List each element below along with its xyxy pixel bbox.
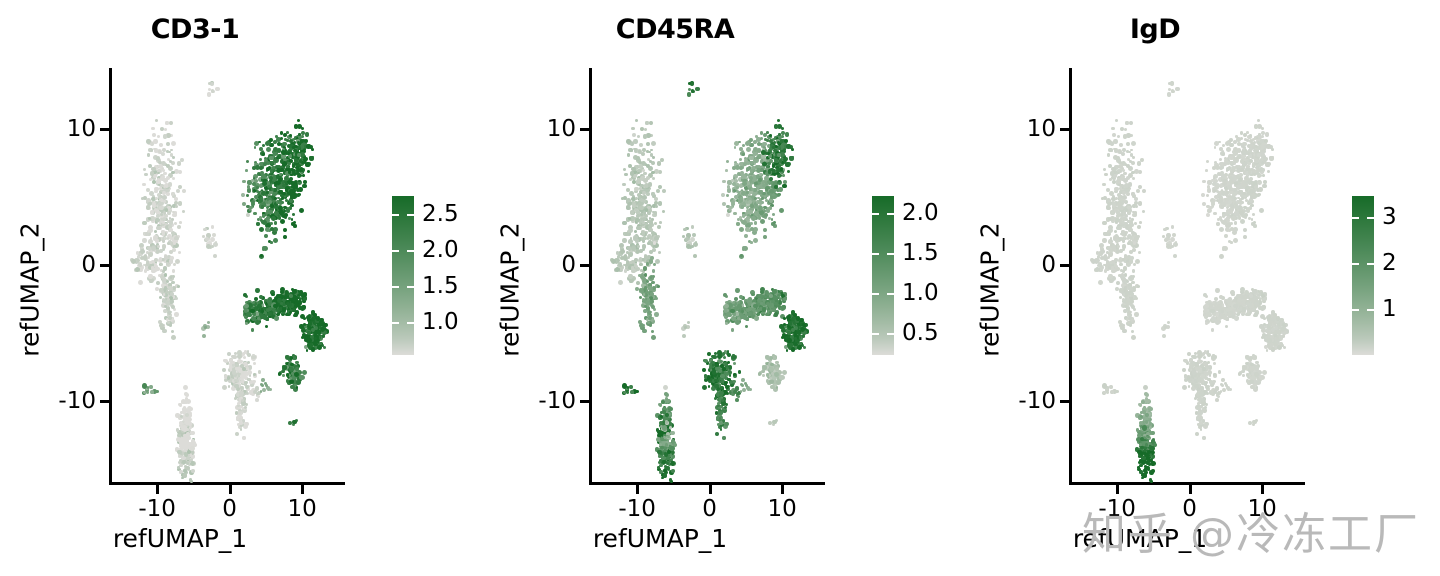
scatter-point	[766, 131, 769, 134]
scatter-point	[1130, 311, 1133, 314]
scatter-point	[164, 128, 167, 131]
scatter-point	[293, 295, 298, 300]
scatter-point	[1222, 214, 1225, 217]
scatter-point	[280, 302, 283, 305]
scatter-point	[188, 407, 192, 411]
scatter-point	[273, 304, 278, 309]
scatter-point	[643, 299, 646, 302]
scatter-point	[630, 210, 634, 214]
scatter-point	[307, 343, 312, 348]
scatter-point	[1125, 121, 1128, 124]
scatter-point	[153, 174, 156, 177]
scatter-point	[1118, 196, 1121, 199]
scatter-point	[779, 375, 784, 380]
scatter-point	[629, 385, 633, 389]
scatter-point	[693, 254, 697, 258]
scatter-point	[635, 119, 638, 122]
scatter-point	[242, 436, 245, 439]
scatter-point	[149, 385, 153, 389]
scatter-point	[634, 258, 638, 262]
scatter-point	[738, 370, 742, 374]
scatter-point	[647, 211, 651, 215]
scatter-point	[1098, 280, 1103, 285]
scatter-point	[665, 420, 669, 424]
scatter-point	[162, 169, 165, 172]
scatter-point	[758, 206, 763, 211]
scatter-point	[777, 153, 781, 157]
scatter-point	[779, 159, 783, 163]
scatter-point	[236, 416, 239, 419]
scatter-point	[280, 219, 285, 224]
scatter-point	[776, 380, 781, 385]
scatter-point	[176, 189, 181, 194]
scatter-point	[191, 469, 195, 473]
panel-igd: IgD refUMAP_1 refUMAP_2 321 100-10-10010	[960, 0, 1440, 576]
scatter-point	[322, 334, 326, 338]
scatter-point	[245, 169, 248, 172]
scatter-point	[1131, 335, 1136, 340]
scatter-point	[1125, 208, 1129, 212]
scatter-point	[163, 134, 168, 139]
scatter-point	[1124, 128, 1127, 131]
scatter-point	[661, 400, 665, 404]
scatter-point	[637, 135, 640, 138]
scatter-point	[269, 388, 272, 391]
scatter-point	[759, 210, 763, 214]
scatter-point	[294, 312, 299, 317]
scatter-point	[154, 258, 158, 262]
scatter-point	[1136, 189, 1141, 194]
figure-root: CD3-1 refUMAP_1 refUMAP_2 2.52.01.51.0 1…	[0, 0, 1440, 576]
scatter-point	[662, 410, 666, 414]
scatter-point	[266, 317, 270, 321]
colorbar-tick	[407, 214, 414, 216]
scatter-point	[641, 152, 645, 156]
scatter-point	[650, 311, 653, 314]
scatter-point	[259, 158, 262, 161]
scatter-point	[670, 431, 674, 435]
scatter-point	[648, 182, 653, 187]
scatter-point	[253, 373, 256, 376]
scatter-point	[639, 143, 643, 147]
scatter-point	[1123, 172, 1126, 175]
scatter-point	[1129, 121, 1133, 125]
scatter-point	[668, 407, 672, 411]
scatter-point	[776, 386, 779, 389]
y-axis-label: refUMAP_2	[496, 190, 525, 390]
colorbar-tick-label: 2.5	[422, 201, 459, 227]
scatter-point	[172, 156, 175, 159]
scatter-point	[736, 222, 739, 225]
scatter-point	[634, 187, 639, 192]
scatter-point	[662, 210, 665, 213]
scatter-point	[181, 400, 185, 404]
scatter-point	[1137, 225, 1141, 229]
colorbar-tick	[872, 253, 879, 255]
scatter-point	[316, 316, 320, 320]
scatter-point	[648, 286, 653, 291]
scatter-point	[281, 197, 284, 200]
scatter-point	[620, 249, 625, 254]
x-tick	[709, 485, 712, 494]
scatter-point	[784, 139, 788, 143]
scatter-point	[651, 330, 654, 333]
scatter-point	[775, 367, 779, 371]
scatter-point	[1117, 135, 1120, 138]
scatter-area	[1070, 68, 1302, 482]
scatter-point	[630, 171, 635, 176]
x-tick-label: 0	[702, 496, 717, 522]
scatter-point	[232, 355, 236, 359]
scatter-point	[168, 286, 173, 291]
scatter-point	[781, 305, 786, 310]
x-tick	[229, 485, 232, 494]
scatter-point	[739, 147, 743, 151]
scatter-point	[1201, 193, 1205, 197]
scatter-point	[726, 213, 731, 218]
scatter-point	[1129, 259, 1134, 264]
scatter-point	[263, 162, 267, 166]
scatter-point	[1129, 220, 1134, 225]
scatter-point	[772, 213, 775, 216]
scatter-point	[727, 188, 731, 192]
scatter-point	[740, 254, 743, 257]
scatter-point	[685, 237, 689, 241]
scatter-point	[177, 285, 180, 288]
y-tick-label: 10	[547, 116, 576, 142]
scatter-point	[256, 186, 259, 189]
scatter-point	[155, 119, 158, 122]
scatter-point	[731, 202, 735, 206]
scatter-point	[299, 208, 304, 213]
scatter-point	[629, 261, 632, 264]
scatter-point	[259, 147, 263, 151]
scatter-point	[271, 216, 276, 221]
scatter-point	[261, 205, 265, 209]
scatter-point	[719, 421, 723, 425]
scatter-point	[754, 316, 759, 321]
scatter-point	[282, 184, 285, 187]
scatter-point	[158, 196, 161, 199]
scatter-point	[234, 384, 239, 389]
scatter-point	[728, 365, 732, 369]
colorbar-tick-label: 1.5	[902, 240, 939, 266]
scatter-point	[753, 147, 758, 152]
scatter-point	[249, 208, 252, 211]
scatter-point	[183, 473, 187, 477]
scatter-point	[652, 156, 655, 159]
scatter-point	[764, 176, 768, 180]
colorbar: 2.52.01.51.0	[390, 180, 480, 380]
scatter-point	[294, 185, 298, 189]
scatter-point	[169, 220, 174, 225]
scatter-point	[142, 183, 146, 187]
scatter-point	[184, 392, 188, 396]
scatter-point	[714, 384, 719, 389]
scatter-point	[773, 295, 778, 300]
scatter-point	[258, 370, 262, 374]
scatter-point	[764, 213, 768, 217]
scatter-point	[238, 412, 241, 415]
scatter-point	[179, 221, 182, 224]
scatter-point	[753, 304, 758, 309]
scatter-point	[1117, 245, 1121, 249]
scatter-point	[1124, 286, 1127, 289]
scatter-point	[185, 420, 189, 424]
scatter-point	[1135, 259, 1140, 264]
scatter-point	[282, 307, 287, 312]
scatter-point	[282, 374, 285, 377]
scatter-point	[721, 399, 724, 402]
scatter-point	[636, 281, 640, 285]
scatter-point	[143, 255, 148, 260]
scatter-point	[284, 176, 288, 180]
scatter-point	[649, 250, 654, 255]
scatter-point	[311, 148, 314, 151]
scatter-point	[654, 312, 659, 317]
scatter-point	[724, 381, 727, 384]
scatter-point	[245, 322, 248, 325]
scatter-point	[735, 320, 740, 325]
x-tick	[781, 485, 784, 494]
scatter-point	[270, 222, 273, 225]
scatter-point	[297, 153, 301, 157]
scatter-point	[165, 121, 168, 124]
scatter-point	[774, 185, 778, 189]
scatter-point	[166, 150, 169, 153]
scatter-point	[227, 352, 232, 357]
scatter-point	[144, 269, 147, 272]
scatter-point	[271, 293, 274, 296]
scatter-point	[723, 356, 726, 359]
scatter-point	[639, 296, 642, 299]
scatter-point	[274, 316, 279, 321]
scatter-point	[652, 211, 655, 214]
scatter-point	[148, 274, 152, 278]
scatter-point	[166, 142, 170, 146]
scatter-point	[174, 312, 179, 317]
scatter-point	[244, 304, 249, 309]
scatter-point	[631, 167, 635, 171]
scatter-point	[213, 254, 217, 258]
scatter-point	[140, 249, 145, 254]
scatter-point	[1128, 286, 1133, 291]
scatter-point	[630, 390, 634, 394]
scatter-point	[1243, 228, 1247, 232]
y-tick-label: 10	[67, 116, 96, 142]
scatter-point	[215, 87, 219, 91]
scatter-point	[168, 166, 173, 171]
scatter-point	[758, 190, 762, 194]
scatter-point	[261, 384, 264, 387]
scatter-point	[301, 328, 306, 333]
scatter-point	[164, 286, 167, 289]
scatter-point	[298, 133, 301, 136]
scatter-point	[631, 127, 634, 130]
scatter-point	[159, 296, 162, 299]
scatter-point	[724, 304, 729, 309]
scatter-point	[222, 385, 227, 390]
scatter-point	[1131, 171, 1134, 174]
scatter-point	[642, 169, 645, 172]
y-tick	[580, 264, 589, 267]
colorbar-tick	[887, 333, 894, 335]
scatter-point	[663, 385, 668, 390]
scatter-point	[655, 297, 659, 301]
scatter-point	[722, 436, 725, 439]
scatter-point	[1142, 210, 1145, 213]
scatter-point	[722, 180, 726, 184]
scatter-point	[174, 169, 179, 174]
scatter-point	[717, 354, 722, 359]
scatter-point	[654, 169, 659, 174]
scatter-point	[714, 397, 717, 400]
scatter-point	[171, 335, 176, 340]
scatter-point	[631, 246, 636, 251]
scatter-point	[742, 388, 746, 392]
scatter-point	[190, 446, 195, 451]
scatter-point	[1115, 239, 1118, 242]
scatter-point	[258, 309, 261, 312]
scatter-point	[1131, 141, 1136, 146]
scatter-point	[615, 267, 620, 272]
scatter-point	[659, 221, 662, 224]
colorbar-tick	[392, 250, 399, 252]
scatter-point	[791, 347, 795, 351]
scatter-point	[654, 197, 658, 201]
scatter-point	[262, 214, 265, 217]
scatter-point	[745, 141, 750, 146]
scatter-point	[1111, 266, 1114, 269]
scatter-point	[183, 385, 188, 390]
scatter-point	[695, 87, 699, 91]
scatter-point	[1095, 267, 1100, 272]
scatter-point	[244, 422, 248, 426]
scatter-point	[305, 132, 309, 136]
scatter-point	[649, 121, 653, 125]
scatter-point	[294, 158, 299, 163]
scatter-point	[1100, 249, 1105, 254]
scatter-point	[754, 221, 758, 225]
scatter-point	[741, 378, 745, 382]
scatter-point	[227, 376, 231, 380]
scatter-point	[646, 192, 650, 196]
scatter-point	[1109, 261, 1112, 264]
scatter-point	[180, 437, 184, 441]
scatter-point	[774, 158, 779, 163]
scatter-point	[751, 293, 754, 296]
scatter-point	[1132, 156, 1135, 159]
scatter-point	[171, 171, 174, 174]
scatter-point	[786, 315, 791, 320]
scatter-point	[172, 211, 175, 214]
colorbar-tick-label: 2.0	[902, 200, 939, 226]
colorbar-tick-label: 1.0	[902, 280, 939, 306]
scatter-point	[207, 92, 211, 96]
scatter-point	[246, 194, 249, 197]
scatter-point	[762, 374, 765, 377]
scatter-point	[763, 228, 767, 232]
colorbar-tick-label: 1.0	[422, 309, 459, 335]
scatter-point	[645, 121, 648, 124]
scatter-point	[160, 263, 163, 266]
scatter-point	[155, 390, 159, 394]
scatter-point	[750, 222, 753, 225]
scatter-point	[715, 364, 719, 368]
scatter-point	[169, 250, 174, 255]
colorbar: 2.01.51.00.5	[870, 180, 960, 380]
scatter-point	[260, 254, 263, 257]
scatter-point	[176, 428, 179, 431]
scatter-point	[164, 255, 169, 260]
scatter-point	[657, 225, 661, 229]
scatter-point	[144, 173, 148, 177]
scatter-point	[669, 426, 672, 429]
scatter-point	[664, 392, 668, 396]
scatter-point	[779, 208, 784, 213]
scatter-point	[640, 263, 643, 266]
scatter-point	[1113, 174, 1116, 177]
scatter-point	[783, 297, 787, 301]
scatter-point	[278, 372, 281, 375]
scatter-point	[769, 193, 772, 196]
scatter-point	[172, 269, 176, 273]
scatter-point	[1132, 211, 1135, 214]
scatter-point	[289, 311, 292, 314]
scatter-point	[760, 219, 765, 224]
scatter-point	[646, 142, 650, 146]
scatter-point	[266, 147, 271, 152]
scatter-point	[169, 121, 173, 125]
scatter-point	[276, 156, 279, 159]
scatter-point	[175, 259, 180, 264]
scatter-point	[654, 222, 657, 225]
scatter-point	[636, 226, 641, 231]
scatter-point	[157, 245, 161, 249]
scatter-point	[258, 141, 261, 144]
scatter-point	[1134, 312, 1139, 317]
scatter-point	[222, 368, 226, 372]
scatter-point	[662, 425, 667, 430]
x-axis-label: refUMAP_1	[0, 524, 360, 553]
scatter-point	[1122, 248, 1125, 251]
scatter-point	[662, 189, 666, 193]
scatter-point	[774, 312, 779, 317]
scatter-point	[289, 199, 293, 203]
scatter-point	[749, 388, 752, 391]
scatter-point	[259, 166, 263, 170]
scatter-point	[151, 266, 154, 269]
scatter-point	[787, 170, 790, 173]
scatter-point	[735, 288, 740, 293]
scatter-point	[785, 162, 789, 166]
scatter-point	[175, 297, 179, 301]
scatter-point	[168, 182, 173, 187]
scatter-point	[166, 280, 169, 283]
scatter-point	[745, 384, 748, 387]
scatter-point	[1128, 182, 1133, 187]
scatter-point	[1138, 201, 1142, 205]
colorbar-tick	[887, 253, 894, 255]
scatter-point	[149, 261, 152, 264]
x-tick-label: -10	[138, 496, 176, 522]
scatter-point	[726, 160, 729, 163]
scatter-point	[1123, 266, 1127, 270]
scatter-point	[658, 170, 662, 174]
scatter-point	[142, 383, 147, 388]
scatter-point	[242, 180, 246, 184]
scatter-point	[769, 311, 772, 314]
